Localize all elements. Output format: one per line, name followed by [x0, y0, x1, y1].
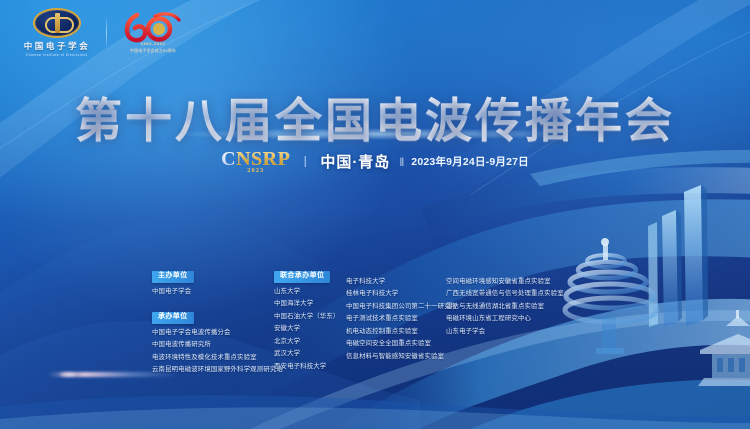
anniversary-caption: 中国电子学会成立60周年 — [130, 48, 176, 54]
organizer-item: 云南昆明电磁波环境国家野外科学观测研究站 — [152, 364, 274, 376]
cnsrp-acronym: CNSRP — [221, 149, 290, 169]
organizer-item: 信息材料与智能感知安徽省实验室 — [346, 351, 446, 363]
anniversary-logo: 1962-2022 中国电子学会成立60周年 — [117, 11, 189, 54]
header-logos: 中国电子学会 Chinese Institute of Electronics — [18, 8, 189, 57]
society-name-en: Chinese Institute of Electronics — [26, 53, 88, 57]
organizer-item: 北京大学 — [274, 336, 346, 348]
organizer-item: 中国电子科技集团公司第二十一研究所 — [346, 301, 446, 313]
organizer-item: 中国电子学会电波传播分会 — [152, 327, 274, 339]
subtitle-row: CNSRP 2023 丨 中国·青岛 ‖ 2023年9月24日-9月27日 — [0, 149, 750, 174]
organizer-badge-spacer — [446, 264, 556, 276]
organizer-badge-spacer — [346, 264, 446, 276]
organizer-item: 山东电子学会 — [446, 326, 556, 338]
organizer-group: 主办单位 中国电子学会 — [152, 264, 274, 298]
cnsrp-year: 2023 — [247, 167, 264, 174]
event-dates: 2023年9月24日-9月27日 — [411, 154, 529, 169]
event-location: 中国·青岛 — [320, 151, 390, 172]
organizer-item: 空间电磁环境感知安徽省重点实验室 — [446, 276, 556, 288]
organizer-column-4: 空间电磁环境感知安徽省重点实验室 广西无线宽带通信与信号处理重点实验室 雷达与无… — [446, 264, 556, 384]
organizer-item: 中国石油大学（华东） — [274, 311, 346, 323]
spiral-sculpture-icon — [565, 238, 657, 354]
organizer-badge: 联合承办单位 — [274, 271, 330, 283]
organizer-item: 中国电子学会 — [152, 286, 274, 298]
organizer-badge: 承办单位 — [152, 312, 194, 324]
conference-poster: 中国电子学会 Chinese Institute of Electronics — [0, 0, 750, 429]
organizer-item: 武汉大学 — [274, 348, 346, 360]
organizer-group: 空间电磁环境感知安徽省重点实验室 广西无线宽带通信与信号处理重点实验室 雷达与无… — [446, 264, 556, 338]
organizer-item: 山东大学 — [274, 286, 346, 298]
organizer-item: 中国电波传播研究所 — [152, 339, 274, 351]
title-area: 第十八届全国电波传播年会 — [0, 82, 750, 151]
cnsrp-letter-c: C — [221, 148, 236, 170]
organizer-badge: 主办单位 — [152, 271, 194, 283]
organizer-group: 联合承办单位 山东大学 中国海洋大学 中国石油大学（华东） 安徽大学 北京大学 … — [274, 264, 346, 373]
society-logo: 中国电子学会 Chinese Institute of Electronics — [18, 8, 96, 57]
organizer-group: 电子科技大学 桂林电子科技大学 中国电子科技集团公司第二十一研究所 电子测试技术… — [346, 264, 446, 363]
organizer-item: 广西无线宽带通信与信号处理重点实验室 — [446, 288, 556, 300]
organizer-column-1: 主办单位 中国电子学会 承办单位 中国电子学会电波传播分会 中国电波传播研究所 … — [152, 264, 274, 384]
organizer-item: 电子科技大学 — [346, 276, 446, 288]
separator-2: ‖ — [399, 155, 402, 169]
organizer-item: 电子测试技术重点实验室 — [346, 313, 446, 325]
cie-emblem-icon — [33, 8, 81, 38]
anniversary-60-icon — [121, 11, 185, 43]
light-streak-core — [60, 373, 76, 376]
organizer-item: 机电动态控制重点实验室 — [346, 326, 446, 338]
organizer-item: 西安电子科技大学 — [274, 361, 346, 373]
logo-divider — [106, 16, 107, 50]
separator-1: 丨 — [299, 153, 311, 170]
page-title: 第十八届全国电波传播年会 — [75, 82, 675, 151]
organizer-item: 雷达与无线通信湖北省重点实验室 — [446, 301, 556, 313]
organizer-item: 电波环境特性及模化技术重点实验室 — [152, 352, 274, 364]
organizer-item: 安徽大学 — [274, 323, 346, 335]
organizer-item: 电磁环境山东省工程研究中心 — [446, 313, 556, 325]
cnsrp-logo: CNSRP 2023 — [221, 149, 290, 174]
organizer-item: 桂林电子科技大学 — [346, 288, 446, 300]
pavilion-icon — [698, 310, 750, 386]
organizer-column-2: 联合承办单位 山东大学 中国海洋大学 中国石油大学（华东） 安徽大学 北京大学 … — [274, 264, 346, 384]
organizer-group: 承办单位 中国电子学会电波传播分会 中国电波传播研究所 电波环境特性及模化技术重… — [152, 305, 274, 377]
organizers-block: 主办单位 中国电子学会 承办单位 中国电子学会电波传播分会 中国电波传播研究所 … — [152, 264, 556, 384]
society-name-cn: 中国电子学会 — [24, 40, 91, 52]
organizer-column-3: 电子科技大学 桂林电子科技大学 中国电子科技集团公司第二十一研究所 电子测试技术… — [346, 264, 446, 384]
organizer-item: 电磁空间安全全国重点实验室 — [346, 338, 446, 350]
organizer-item: 中国海洋大学 — [274, 298, 346, 310]
skyscraper-icon — [648, 185, 708, 327]
